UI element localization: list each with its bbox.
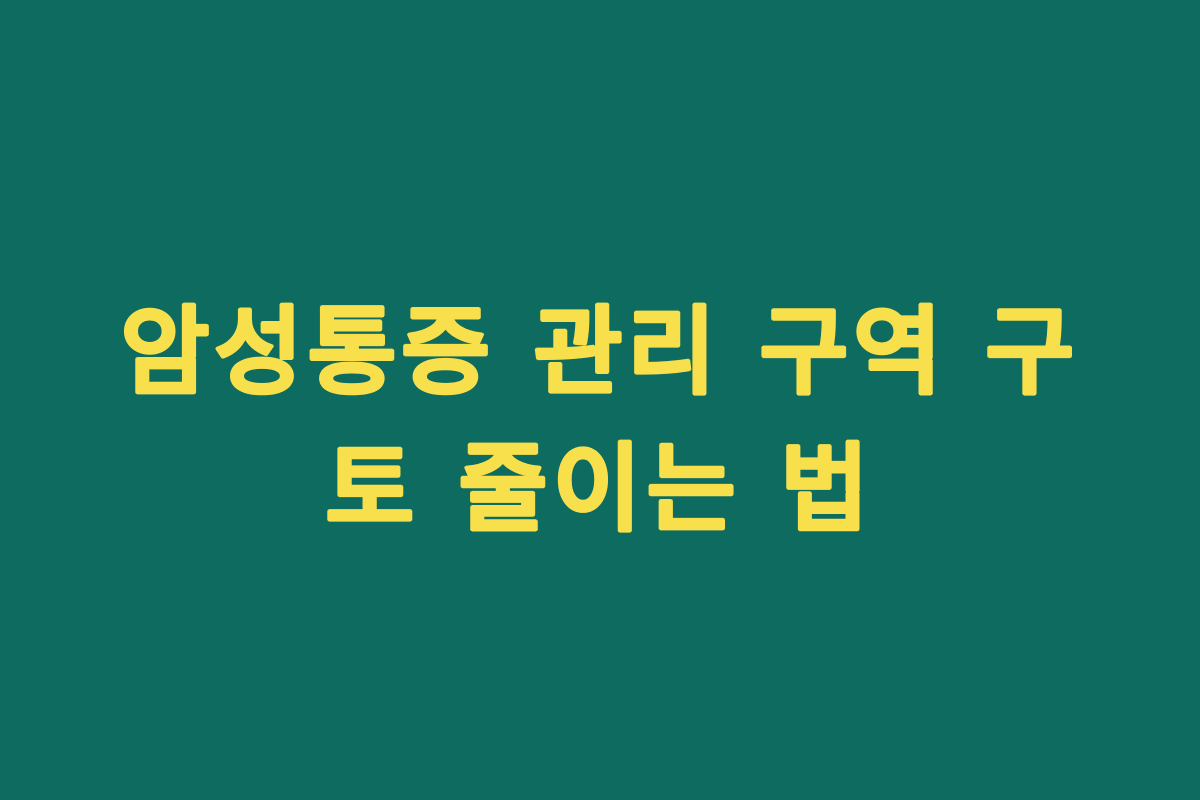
title-text-block: 암성통증 관리 구역 구 토 줄이는 법 — [95, 284, 1105, 558]
title-card: 암성통증 관리 구역 구 토 줄이는 법 — [0, 0, 1200, 800]
title-line-1: 암성통증 관리 구역 구 — [121, 284, 1080, 421]
title-line-2: 토 줄이는 법 — [326, 421, 875, 558]
